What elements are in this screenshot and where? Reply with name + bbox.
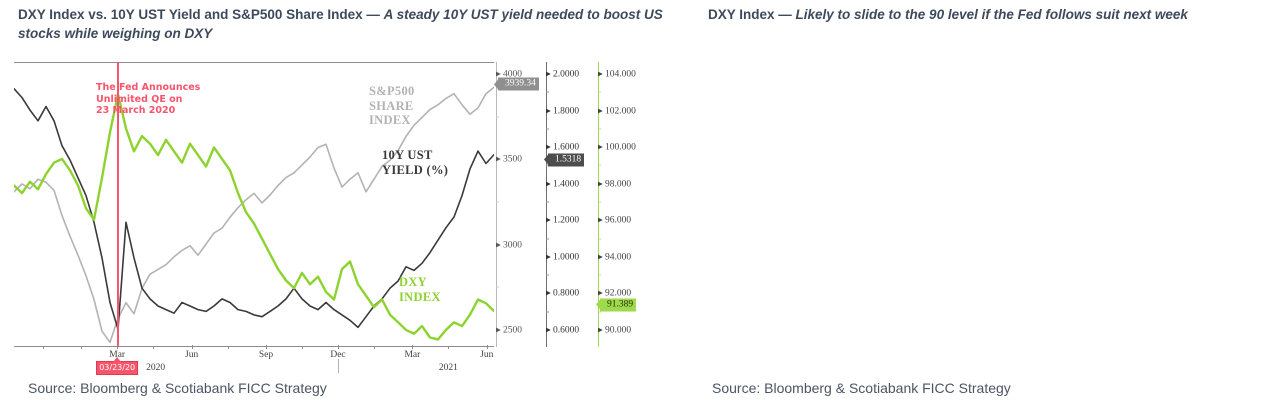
- ust-last-value-flag: 1.5318: [548, 153, 584, 166]
- axis-tick: ▸100.000: [598, 142, 636, 153]
- x-axis-minor-tick: [448, 346, 449, 349]
- axis-tick: ▸94.000: [598, 251, 631, 262]
- right-panel-title: DXY Index — Likely to slide to the 90 le…: [708, 5, 1260, 24]
- axis-minor-tick: [546, 92, 549, 93]
- left-x-axis: MarJunSepDecMarJun2020202103/23/20: [14, 349, 494, 383]
- x-axis-tick: [412, 345, 413, 349]
- axis-minor-tick: [598, 165, 601, 166]
- axis-tick: ▸3000: [496, 239, 522, 250]
- left-chart-panel: DXY Index vs. 10Y UST Yield and S&P500 S…: [0, 0, 700, 403]
- right-title-italic: Likely to slide to the 90 level if the F…: [796, 7, 1188, 22]
- axis-tick: ▸3500: [496, 154, 522, 165]
- axis-tick: ▸1.4000: [546, 178, 579, 189]
- axis-minor-tick: [598, 202, 601, 203]
- axis-minor-tick: [546, 238, 549, 239]
- x-axis-year-label: 2020: [146, 363, 165, 373]
- x-axis-minor-tick: [302, 346, 303, 349]
- axis-minor-tick: [546, 202, 549, 203]
- axis-minor-tick: [546, 275, 549, 276]
- x-axis-label: Sep: [259, 350, 273, 360]
- ust-series-label: 10Y UST YIELD (%): [382, 148, 448, 177]
- spx-y-axis: ▸4000▸3500▸3000▸25003939.34: [496, 62, 542, 347]
- x-axis-tick: [192, 345, 193, 349]
- x-axis-label: Jun: [185, 350, 198, 360]
- dxy-y-axis: ▸104.000▸102.000▸100.000▸98.000▸96.000▸9…: [598, 62, 654, 347]
- axis-tick: ▸1.8000: [546, 105, 579, 116]
- spx-series-label: S&P500 SHARE INDEX: [369, 84, 415, 128]
- axis-tick: ▸1.2000: [546, 215, 579, 226]
- x-axis-minor-tick: [81, 346, 82, 349]
- right-title-bold: DXY Index —: [708, 7, 796, 22]
- dxy-series-label: DXY INDEX: [399, 275, 441, 304]
- event-date-badge: 03/23/20: [96, 361, 138, 375]
- report-page: DXY Index vs. 10Y UST Yield and S&P500 S…: [0, 0, 1274, 403]
- fed-qe-annotation: The Fed Announces Unlimited QE on 23 Mar…: [96, 82, 200, 117]
- axis-minor-tick: [496, 287, 499, 288]
- axis-tick: ▸1.0000: [546, 251, 579, 262]
- left-plot-area: [14, 62, 494, 347]
- axis-tick: ▸1.6000: [546, 142, 579, 153]
- ust-y-axis: ▸2.0000▸1.8000▸1.6000▸1.4000▸1.2000▸1.00…: [546, 62, 592, 347]
- axis-tick: ▸0.6000: [546, 325, 579, 336]
- axis-minor-tick: [598, 92, 601, 93]
- axis-minor-tick: [496, 202, 499, 203]
- axis-tick: ▸96.000: [598, 215, 631, 226]
- x-axis-tick: [117, 345, 118, 349]
- right-chart-panel: DXY Index — Likely to slide to the 90 le…: [700, 0, 1274, 403]
- left-panel-title: DXY Index vs. 10Y UST Yield and S&P500 S…: [18, 5, 686, 43]
- x-axis-minor-tick: [153, 346, 154, 349]
- x-axis-tick: [266, 345, 267, 349]
- x-axis-label: Jun: [480, 350, 493, 360]
- axis-tick: ▸2.0000: [546, 69, 579, 80]
- axis-tick: ▸90.000: [598, 325, 631, 336]
- axis-minor-tick: [598, 238, 601, 239]
- x-axis-minor-tick: [43, 346, 44, 349]
- left-source-note: Source: Bloomberg & Scotiabank FICC Stra…: [28, 380, 327, 396]
- x-axis-year-label: 2021: [439, 363, 458, 373]
- x-axis-tick: [338, 345, 339, 349]
- x-axis-label: Mar: [404, 350, 420, 360]
- axis-tick: ▸2500: [496, 325, 522, 336]
- axis-tick: ▸0.8000: [546, 288, 579, 299]
- left-series-svg: [14, 62, 494, 347]
- axis-tick: ▸102.000: [598, 105, 636, 116]
- axis-minor-tick: [546, 128, 549, 129]
- left-title-bold: DXY Index vs. 10Y UST Yield and S&P500 S…: [18, 7, 384, 22]
- axis-minor-tick: [496, 116, 499, 117]
- x-axis-tick: [487, 345, 488, 349]
- spx-last-value-flag: 3939.34: [498, 78, 539, 91]
- x-axis-year-divider: [338, 359, 339, 373]
- dxy-last-value-flag: 91.389: [600, 298, 636, 311]
- axis-tick: ▸98.000: [598, 178, 631, 189]
- axis-minor-tick: [598, 311, 601, 312]
- axis-minor-tick: [598, 275, 601, 276]
- left-chart: The Fed Announces Unlimited QE on 23 Mar…: [14, 62, 494, 347]
- x-axis-minor-tick: [228, 346, 229, 349]
- axis-minor-tick: [598, 128, 601, 129]
- axis-tick: ▸104.000: [598, 69, 636, 80]
- axis-minor-tick: [546, 311, 549, 312]
- x-axis-minor-tick: [374, 346, 375, 349]
- right-source-note: Source: Bloomberg & Scotiabank FICC Stra…: [712, 380, 1011, 396]
